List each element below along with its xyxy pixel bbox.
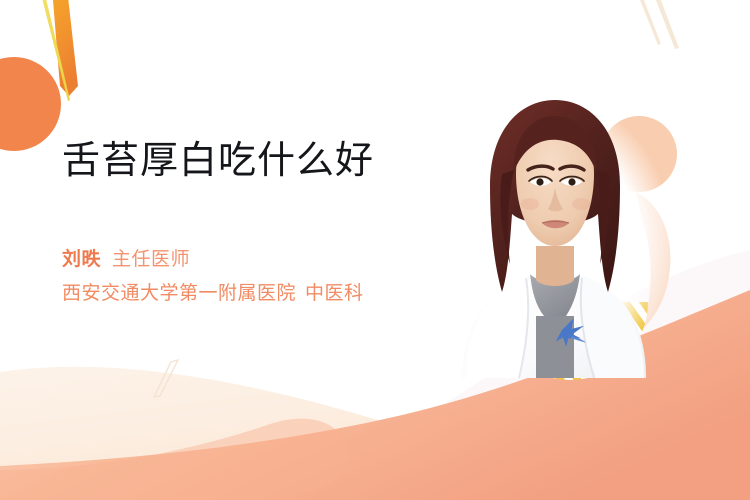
- pupil-left: [536, 178, 543, 185]
- cheek-left: [521, 198, 539, 210]
- cheek-right: [572, 198, 590, 210]
- pupil-right: [568, 178, 575, 185]
- neck: [536, 246, 574, 286]
- article-cover-card: 舌苔厚白吃什么好 刘昳主任医师 西安交通大学第一附属医院中医科: [0, 0, 750, 500]
- doctor-hospital: 西安交通大学第一附属医院: [62, 283, 296, 304]
- page-title: 舌苔厚白吃什么好: [62, 137, 374, 186]
- doctor-affiliation-row: 西安交通大学第一附属医院中医科: [62, 280, 364, 308]
- doctor-rank: 主任医师: [112, 249, 190, 270]
- doctor-info-block: 刘昳主任医师 西安交通大学第一附属医院中医科: [62, 246, 364, 308]
- doctor-photo: [432, 78, 682, 378]
- doctor-name: 刘昳: [62, 249, 101, 270]
- doctor-name-row: 刘昳主任医师: [62, 246, 364, 274]
- doctor-department: 中医科: [305, 283, 364, 304]
